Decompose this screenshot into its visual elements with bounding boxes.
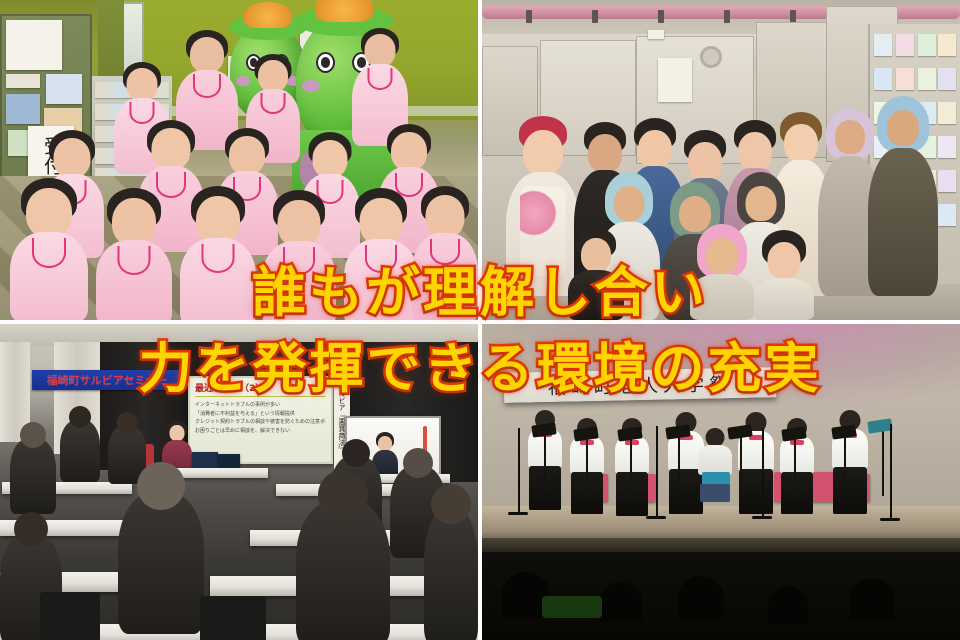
festival-banner-label: 福崎町老人大学祭 <box>548 370 733 400</box>
volunteer-person <box>96 188 172 320</box>
seminar-banner-label: 福崎町サルビアセミナー <box>47 372 168 388</box>
seminar-room-photo: 福崎町サルビアセミナー 最近の事例（2） インターネットトラブルの事例が多い 「… <box>0 324 478 640</box>
laptop <box>192 452 218 469</box>
audience-silhouette <box>600 582 642 622</box>
sign-plate <box>648 30 664 39</box>
international-group-photo <box>482 0 960 320</box>
poster <box>6 74 40 88</box>
photo-top-right <box>482 0 960 320</box>
green-object <box>542 596 602 618</box>
projection-screen: 最近の事例（2） インターネットトラブルの事例が多い 「消費者に不利益を与える」… <box>188 376 333 464</box>
attendee <box>10 438 56 514</box>
laptop <box>218 454 240 469</box>
poster <box>6 94 40 124</box>
volunteer-person <box>180 186 256 320</box>
attendee <box>424 508 478 640</box>
stage-floor <box>482 506 960 542</box>
audience-silhouette <box>850 578 894 620</box>
slide-title: 最近の事例（2） <box>195 381 326 397</box>
notice <box>658 58 692 102</box>
seminar-banner: 福崎町サルビアセミナー <box>32 370 182 390</box>
volunteer-person <box>412 186 478 320</box>
volunteer-person <box>344 188 418 320</box>
reception-volunteers-photo: 受付 <box>0 0 478 320</box>
volunteer-person <box>10 178 88 320</box>
slide-bullet: お困りごとは早めに相談を、解決できない <box>195 427 326 436</box>
group-person-hijab <box>690 224 754 320</box>
festival-banner: 福崎町老人大学祭 <box>504 367 777 403</box>
group-person <box>568 228 624 320</box>
poster <box>46 74 82 104</box>
poster <box>6 20 62 70</box>
stage-performance-photo: 福崎町老人大学祭 <box>482 324 960 640</box>
group-person <box>754 230 814 320</box>
chair <box>200 596 266 640</box>
slide-bullet: 「消費者に不利益を与える」という情報提供 <box>195 410 326 419</box>
chair <box>40 592 100 640</box>
photo-collage: 受付 <box>0 0 960 640</box>
photo-top-left: 受付 <box>0 0 478 320</box>
stage-curtain <box>188 342 340 378</box>
photo-bottom-right: 福崎町老人大学祭 <box>482 324 960 640</box>
slide-bullet: インターネットトラブルの事例が多い <box>195 401 326 410</box>
audience-silhouette <box>768 586 808 624</box>
attendee <box>296 500 390 640</box>
attendee <box>60 420 100 482</box>
slide-bullet: クレジット契約トラブルの相談や被害を防ぐための注意ポイント <box>195 418 326 427</box>
volunteer-person <box>262 190 336 320</box>
attendee <box>118 492 204 634</box>
audience-silhouette <box>678 576 724 620</box>
vent-fan <box>700 46 722 68</box>
group-person-hijab <box>868 96 938 296</box>
photo-bottom-left: 福崎町サルビアセミナー 最近の事例（2） インターネットトラブルの事例が多い 「… <box>0 324 478 640</box>
seated-performer <box>698 428 732 502</box>
